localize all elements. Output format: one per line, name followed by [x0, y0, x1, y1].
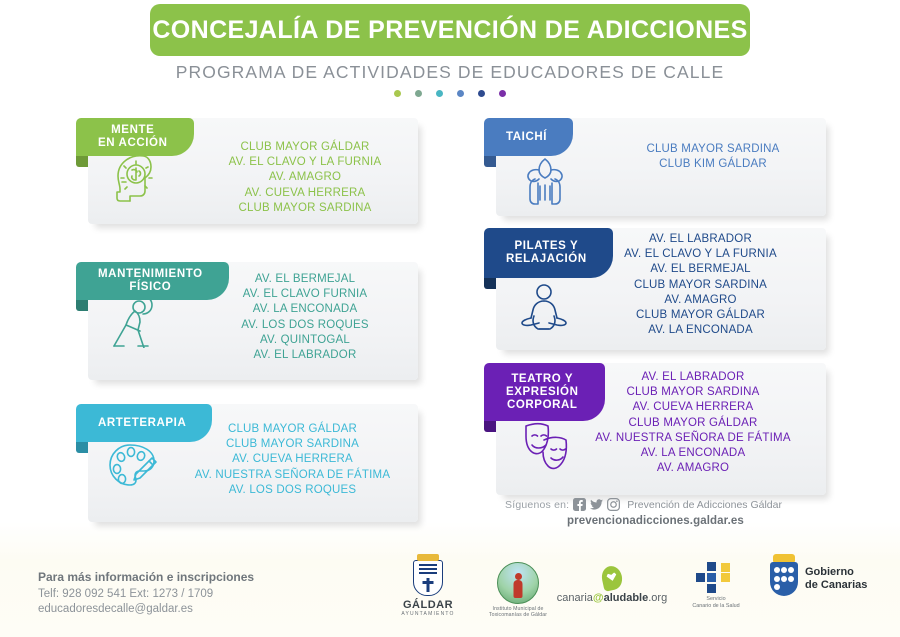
crown-icon: [773, 554, 795, 562]
location-item: CLUB MAYOR SARDINA: [578, 385, 808, 400]
locations-list-arteterapia: CLUB MAYOR GÁLDARCLUB MAYOR SARDINAAV. C…: [185, 422, 400, 498]
imt-emblem-icon: [497, 562, 539, 604]
location-item: AV. AMAGRO: [578, 461, 808, 476]
canariasaludable-text: canaria@aludable.org: [552, 592, 672, 604]
header-dot-2: [415, 90, 422, 97]
instagram-icon[interactable]: [607, 498, 620, 511]
location-item: AV. EL LABRADOR: [210, 348, 400, 363]
meditation-person-icon: [516, 282, 572, 334]
header-dot-6: [499, 90, 506, 97]
card-title-line: CORPORAL: [507, 399, 578, 412]
canarias-shield-icon: [770, 562, 798, 596]
card-title-line: EXPRESIÓN: [506, 386, 579, 399]
facebook-icon[interactable]: [573, 498, 586, 511]
page-title: CONCEJALÍA DE PREVENCIÓN DE ADICCIONES: [152, 16, 747, 45]
location-item: CLUB MAYOR SARDINA: [618, 142, 808, 157]
person-figure-icon: [514, 580, 523, 598]
cross-icon: [427, 578, 430, 592]
location-item: AV. LA ENCONADA: [593, 323, 808, 338]
card-title-line: EN ACCIÓN: [98, 137, 168, 150]
location-item: CLUB KIM GÁLDAR: [618, 157, 808, 172]
location-item: AV. CUEVA HERRERA: [185, 452, 400, 467]
seven-islands-dots: [774, 567, 794, 591]
location-item: CLUB MAYOR GÁLDAR: [593, 308, 808, 323]
locations-list-pilates-y-relajacion: AV. EL LABRADORAV. EL CLAVO Y LA FURNIAA…: [593, 232, 808, 338]
card-title-line: FÍSICO: [129, 281, 171, 294]
card-tab-mantenimiento-fisico[interactable]: MANTENIMIENTOFÍSICO: [76, 262, 229, 300]
header-banner: CONCEJALÍA DE PREVENCIÓN DE ADICCIONES: [150, 4, 750, 56]
can-text-c: .org: [648, 592, 667, 604]
gobierno-text: Gobierno de Canarias: [805, 566, 867, 592]
logo-galdar: GÁLDAR AYUNTAMIENTO: [392, 560, 464, 617]
tab-fold: [76, 156, 88, 167]
location-item: AV. LOS DOS ROQUES: [185, 483, 400, 498]
location-item: CLUB MAYOR SARDINA: [185, 437, 400, 452]
can-text-a: canaria: [557, 592, 593, 604]
location-item: AV. CUEVA HERRERA: [210, 186, 400, 201]
logo-canariasaludable: canaria@aludable.org: [552, 566, 672, 604]
card-tab-taichi[interactable]: TAICHÍ: [484, 118, 573, 156]
location-item: AV. EL BERMEJAL: [593, 262, 808, 277]
card-tab-arteterapia[interactable]: ARTETERAPIA: [76, 404, 212, 442]
can-text-b: aludable: [604, 592, 649, 604]
locations-list-taichi: CLUB MAYOR SARDINACLUB KIM GÁLDAR: [618, 142, 808, 172]
galdar-sub: AYUNTAMIENTO: [392, 611, 464, 617]
card-title-line: TEATRO Y: [511, 373, 573, 386]
card-tab-pilates-y-relajacion[interactable]: PILATES YRELAJACIÓN: [484, 228, 613, 278]
location-item: AV. EL CLAVO Y LA FURNIA: [210, 155, 400, 170]
scs-blocks-icon: [696, 562, 736, 592]
page-subtitle: PROGRAMA DE ACTIVIDADES DE EDUCADORES DE…: [0, 62, 900, 83]
galdar-name: GÁLDAR: [392, 599, 464, 611]
contact-email[interactable]: educadoresdecalle@galdar.es: [38, 602, 254, 617]
social-account-name: Prevención de Adicciones Gáldar: [627, 499, 782, 511]
location-item: AV. LA ENCONADA: [210, 302, 400, 317]
stretching-person-icon: [108, 292, 160, 348]
scs-caption-line1: Servicio: [672, 596, 760, 603]
location-item: CLUB MAYOR SARDINA: [593, 278, 808, 293]
header-dot-3: [436, 90, 443, 97]
location-item: AV. LOS DOS ROQUES: [210, 318, 400, 333]
location-item: AV. QUINTOGAL: [210, 333, 400, 348]
logo-servicio-canario-salud: Servicio Canario de la Salud: [672, 562, 760, 611]
tab-fold: [484, 421, 496, 432]
location-item: AV. EL CLAVO Y LA FURNIA: [593, 247, 808, 262]
galdar-crest-icon: [413, 560, 443, 596]
contact-block: Para más información e inscripciones Tel…: [38, 570, 254, 617]
card-title-line: MANTENIMIENTO: [98, 268, 203, 281]
twitter-icon[interactable]: [590, 498, 603, 511]
location-item: AV. EL LABRADOR: [578, 370, 808, 385]
scs-caption-line2: Canario de la Salud: [672, 603, 760, 610]
card-tab-teatro-y-expresion-corporal[interactable]: TEATRO YEXPRESIÓNCORPORAL: [484, 363, 605, 421]
location-item: AV. EL BERMEJAL: [210, 272, 400, 287]
location-item: AV. AMAGRO: [593, 293, 808, 308]
card-title-line: RELAJACIÓN: [506, 253, 587, 266]
imt-caption: Instituto Municipal de Toxicomanías de G…: [470, 607, 566, 619]
tab-fold: [484, 156, 496, 167]
location-item: AV. EL LABRADOR: [593, 232, 808, 247]
imt-caption-line2: Toxicomanías de Gáldar: [470, 613, 566, 619]
crown-icon: [417, 554, 439, 561]
gobierno-line2: de Canarias: [805, 579, 867, 592]
locations-list-mantenimiento-fisico: AV. EL BERMEJALAV. EL CLAVO FURNIAAV. LA…: [210, 272, 400, 363]
infographic-page: CONCEJALÍA DE PREVENCIÓN DE ADICCIONES P…: [0, 0, 900, 637]
contact-title: Para más información e inscripciones: [38, 570, 254, 584]
location-item: AV. LA ENCONADA: [578, 446, 808, 461]
location-item: AV. NUESTRA SEÑORA DE FÁTIMA: [185, 468, 400, 483]
website-url[interactable]: prevencionadicciones.galdar.es: [567, 515, 835, 527]
crest-bars: [419, 564, 437, 575]
card-title-line: PILATES Y: [515, 240, 579, 253]
theatre-masks-icon: [516, 418, 576, 472]
social-block: Síguenos en: Prevención de Adicciones Gá…: [505, 498, 835, 527]
contact-phone: Telf: 928 092 541 Ext: 1273 / 1709: [38, 587, 254, 602]
locations-list-teatro-y-expresion-corporal: AV. EL LABRADORCLUB MAYOR SARDINAAV. CUE…: [578, 370, 808, 476]
location-item: CLUB MAYOR GÁLDAR: [578, 416, 808, 431]
location-item: CLUB MAYOR GÁLDAR: [185, 422, 400, 437]
at-symbol-icon: @: [593, 592, 604, 604]
tab-fold: [76, 300, 88, 311]
decorative-dots: [0, 90, 900, 97]
location-item: CLUB MAYOR GÁLDAR: [210, 140, 400, 155]
header-dot-1: [394, 90, 401, 97]
logo-gobierno-de-canarias: Gobierno de Canarias: [770, 562, 890, 596]
header-dot-4: [457, 90, 464, 97]
scs-caption: Servicio Canario de la Salud: [672, 596, 760, 611]
locations-list-mente-en-accion: CLUB MAYOR GÁLDARAV. EL CLAVO Y LA FURNI…: [210, 140, 400, 216]
card-title-line: MENTE: [111, 124, 154, 137]
lotus-hands-icon: [518, 155, 572, 205]
header-dot-5: [478, 90, 485, 97]
location-item: AV. CUEVA HERRERA: [578, 400, 808, 415]
location-item: AV. NUESTRA SEÑORA DE FÁTIMA: [578, 431, 808, 446]
card-tab-mente-en-accion[interactable]: MENTEEN ACCIÓN: [76, 118, 194, 156]
heart-drop-icon: [600, 564, 625, 592]
palette-brush-icon: [106, 438, 160, 492]
tab-fold: [76, 442, 88, 453]
location-item: AV. AMAGRO: [210, 170, 400, 185]
location-item: AV. EL CLAVO FURNIA: [210, 287, 400, 302]
social-label: Síguenos en:: [505, 499, 569, 511]
tab-fold: [484, 278, 496, 289]
card-title-line: ARTETERAPIA: [98, 417, 186, 430]
head-brain-icon: [108, 150, 160, 206]
location-item: CLUB MAYOR SARDINA: [210, 201, 400, 216]
gobierno-line1: Gobierno: [805, 566, 867, 579]
card-title-line: TAICHÍ: [506, 131, 547, 144]
